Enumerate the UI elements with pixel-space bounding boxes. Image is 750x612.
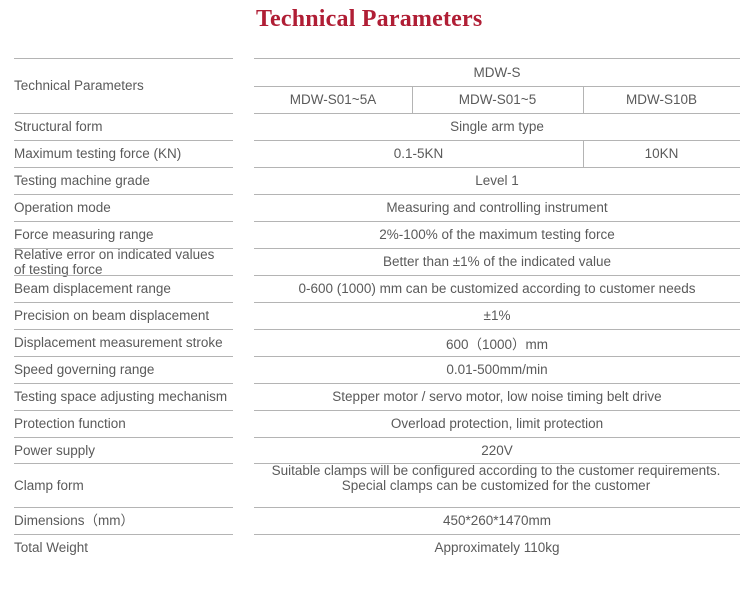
table-row: Maximum testing force (KN) 0.1-5KN 10KN xyxy=(0,140,750,167)
page-title: Technical Parameters xyxy=(256,6,482,33)
table-row: Dimensions（mm） 450*260*1470mm xyxy=(0,507,750,534)
row-value: Single arm type xyxy=(254,113,740,140)
row-label: Operation mode xyxy=(0,194,254,221)
row-value-area: 0-600 (1000) mm can be customized accord… xyxy=(254,275,750,302)
row-label-text: Speed governing range xyxy=(14,361,154,377)
row-label-text: Precision on beam displacement xyxy=(14,307,209,323)
row-value-area: Better than ±1% of the indicated value xyxy=(254,248,750,275)
model-column-2: MDW-S01~5 xyxy=(412,86,583,113)
row-value: 2%-100% of the maximum testing force xyxy=(254,221,740,248)
row-value: 220V xyxy=(254,437,740,463)
row-value-line-1: Suitable clamps will be configured accor… xyxy=(272,463,721,478)
model-column-3: MDW-S10B xyxy=(583,86,740,113)
rule xyxy=(14,221,233,222)
table-row: Protection function Overload protection,… xyxy=(0,410,750,437)
row-label-text: Power supply xyxy=(14,442,95,458)
row-label-text: Maximum testing force (KN) xyxy=(14,145,181,161)
rule xyxy=(14,248,233,249)
rule xyxy=(14,194,233,195)
row-value: 600（1000）mm xyxy=(254,329,740,356)
row-value: ±1% xyxy=(254,302,740,329)
model-column-1: MDW-S01~5A xyxy=(254,86,412,113)
row-value-span-1-2: 0.1-5KN xyxy=(254,140,583,167)
column-divider xyxy=(583,86,584,113)
column-divider xyxy=(412,86,413,113)
row-value: Overload protection, limit protection xyxy=(254,410,740,437)
row-label: Clamp form xyxy=(0,463,254,507)
rule xyxy=(14,356,233,357)
row-value: Level 1 xyxy=(254,167,740,194)
table-row: Precision on beam displacement ±1% xyxy=(0,302,750,329)
model-column-2-label: MDW-S01~5 xyxy=(459,92,536,107)
row-label-text: Total Weight xyxy=(14,539,88,555)
row-value: 450*260*1470mm xyxy=(254,507,740,534)
table-row: Testing machine grade Level 1 xyxy=(0,167,750,194)
rule xyxy=(14,275,233,276)
row-label-text: Testing space adjusting mechanism xyxy=(14,388,227,404)
row-label-text: Beam displacement range xyxy=(14,280,171,296)
row-value-area: Stepper motor / servo motor, low noise t… xyxy=(254,383,750,410)
row-label-text: Relative error on indicated values of te… xyxy=(14,246,214,277)
rule xyxy=(14,507,233,508)
row-label-text: Dimensions（mm） xyxy=(14,512,134,528)
row-label: Displacement measurement stroke xyxy=(0,329,254,356)
model-column-3-label: MDW-S10B xyxy=(626,92,697,107)
row-value-area: ±1% xyxy=(254,302,750,329)
row-value: Measuring and controlling instrument xyxy=(254,194,740,221)
rule xyxy=(14,302,233,303)
table-row: Relative error on indicated values of te… xyxy=(0,248,750,275)
rule xyxy=(14,140,233,141)
row-label-text: Testing machine grade xyxy=(14,172,150,188)
row-value-area: 0.01-500mm/min xyxy=(254,356,750,383)
rule xyxy=(14,113,233,114)
row-value-area: Measuring and controlling instrument xyxy=(254,194,750,221)
rule xyxy=(14,437,233,438)
row-value: 0-600 (1000) mm can be customized accord… xyxy=(254,275,740,302)
row-value-area: Approximately 110kg xyxy=(254,534,750,561)
table-row: Speed governing range 0.01-500mm/min xyxy=(0,356,750,383)
row-label: Testing space adjusting mechanism xyxy=(0,383,254,410)
table-row: Operation mode Measuring and controlling… xyxy=(0,194,750,221)
row-label-text: Structural form xyxy=(14,118,103,134)
row-value-area: Overload protection, limit protection xyxy=(254,410,750,437)
table-row: Displacement measurement stroke 600（1000… xyxy=(0,329,750,356)
row-value-area: Level 1 xyxy=(254,167,750,194)
row-label: Maximum testing force (KN) xyxy=(0,140,254,167)
row-label: Protection function xyxy=(0,410,254,437)
row-label: Power supply xyxy=(0,437,254,463)
row-label: Precision on beam displacement xyxy=(0,302,254,329)
row-value: Better than ±1% of the indicated value xyxy=(254,248,740,275)
series-header-cell: MDW-S xyxy=(254,58,740,86)
row-value-area: Suitable clamps will be configured accor… xyxy=(254,463,750,507)
row-label-line-1: Relative error on indicated values xyxy=(14,247,214,262)
row-label-text: Protection function xyxy=(14,415,126,431)
column-divider xyxy=(583,140,584,167)
row-label: Structural form xyxy=(0,113,254,140)
table-row: Total Weight Approximately 110kg xyxy=(0,534,750,561)
table-row: Structural form Single arm type xyxy=(0,113,750,140)
row-label: Dimensions（mm） xyxy=(0,507,254,534)
row-label: Testing machine grade xyxy=(0,167,254,194)
label-technical-parameters: Technical Parameters xyxy=(14,77,144,93)
row-value-col-3: 10KN xyxy=(583,140,740,167)
table-row: Force measuring range 2%-100% of the max… xyxy=(0,221,750,248)
header-value-area: MDW-S MDW-S01~5A MDW-S01~5 MDW-S10B xyxy=(254,58,750,113)
rule xyxy=(14,329,233,330)
row-label: Relative error on indicated values of te… xyxy=(0,248,254,275)
table-row: Power supply 220V xyxy=(0,437,750,463)
row-value-area: Single arm type xyxy=(254,113,750,140)
row-value: Stepper motor / servo motor, low noise t… xyxy=(254,383,740,410)
row-label: Total Weight xyxy=(0,534,254,561)
row-label-text: Clamp form xyxy=(14,477,84,493)
rule xyxy=(14,58,233,59)
row-value-line-2: Special clamps can be customized for the… xyxy=(342,478,650,493)
table-row: Clamp form Suitable clamps will be confi… xyxy=(0,463,750,507)
row-label: Speed governing range xyxy=(0,356,254,383)
table-header: Technical Parameters MDW-S MDW-S01~5A MD… xyxy=(0,58,750,113)
rule xyxy=(14,463,233,464)
rule xyxy=(14,534,233,535)
row-label-text: Displacement measurement stroke xyxy=(14,334,223,350)
row-value: Suitable clamps will be configured accor… xyxy=(254,463,740,507)
row-value-area: 600（1000）mm xyxy=(254,329,750,356)
table-row: Beam displacement range 0-600 (1000) mm … xyxy=(0,275,750,302)
row-value-area: 2%-100% of the maximum testing force xyxy=(254,221,750,248)
rule xyxy=(14,410,233,411)
technical-parameters-table: Technical Parameters MDW-S MDW-S01~5A MD… xyxy=(0,58,750,561)
table-row: Testing space adjusting mechanism Steppe… xyxy=(0,383,750,410)
row-value: 0.01-500mm/min xyxy=(254,356,740,383)
row-label: Beam displacement range xyxy=(0,275,254,302)
row-value-area: 0.1-5KN 10KN xyxy=(254,140,750,167)
rule xyxy=(14,383,233,384)
row-value-col-3-text: 10KN xyxy=(645,146,679,161)
row-value-area: 450*260*1470mm xyxy=(254,507,750,534)
rule xyxy=(14,167,233,168)
row-value: Approximately 110kg xyxy=(254,534,740,561)
row-value-area: 220V xyxy=(254,437,750,463)
row-label-text: Operation mode xyxy=(14,199,111,215)
row-label: Force measuring range xyxy=(0,221,254,248)
row-label-text: Force measuring range xyxy=(14,226,154,242)
header-label-cell: Technical Parameters xyxy=(0,58,254,113)
